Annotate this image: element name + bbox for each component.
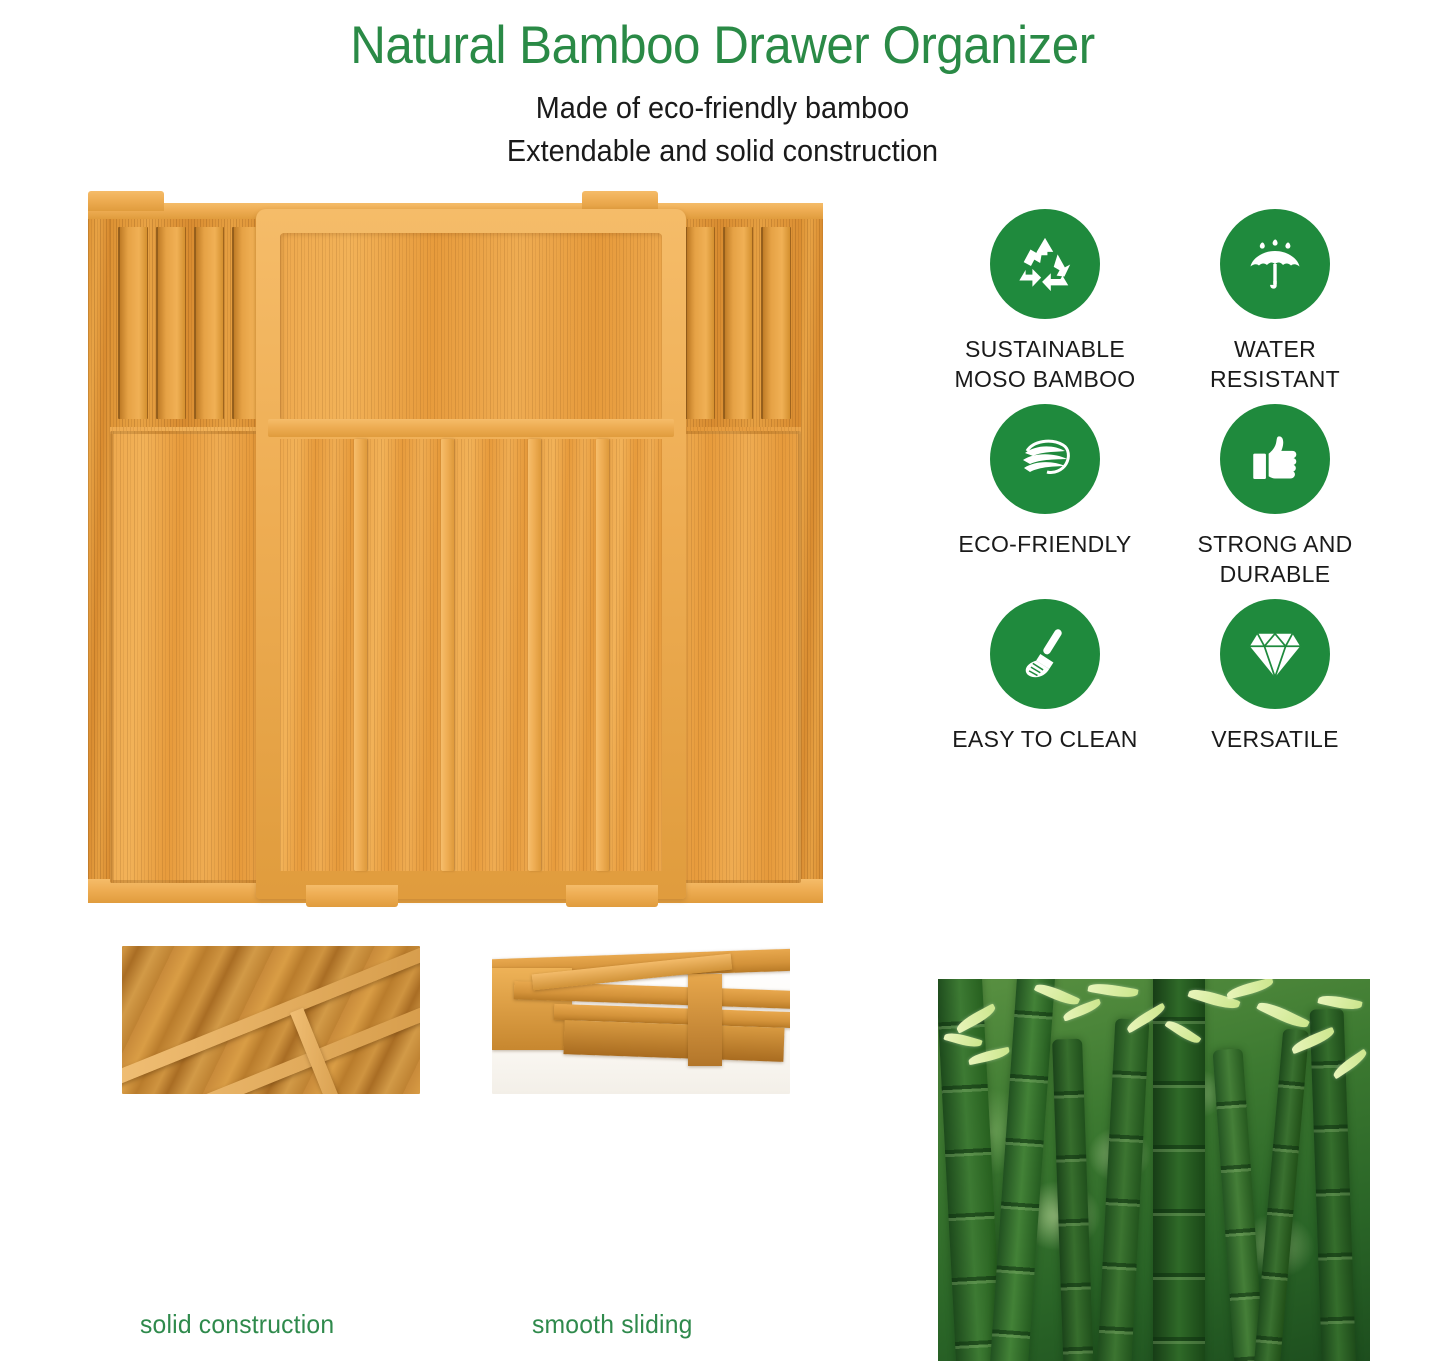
cutlery-slot (541, 439, 596, 871)
cutlery-divider (354, 439, 367, 871)
feature-label: VERSATILE (1165, 725, 1385, 754)
subtitle-line-1: Made of eco-friendly bamboo (51, 88, 1395, 129)
cutlery-divider (528, 439, 541, 871)
header: Natural Bamboo Drawer Organizer Made of … (0, 0, 1445, 171)
knife-block-left (110, 219, 272, 427)
feature-label: STRONG AND DURABLE (1165, 530, 1385, 589)
feature-easy-to-clean[interactable]: EASY TO CLEAN (935, 599, 1155, 794)
solid-construction-photo (122, 946, 420, 1094)
cutlery-slot (609, 439, 662, 871)
thumbs-up-icon (1220, 404, 1330, 514)
feature-label: EASY TO CLEAN (935, 725, 1155, 754)
leaf-wave-icon (990, 404, 1100, 514)
knife-slot (723, 227, 753, 419)
cutlery-slot (367, 439, 441, 871)
cutlery-divider (441, 439, 454, 871)
feature-grid: SUSTAINABLE MOSO BAMBOO WATER RESISTANT (935, 209, 1385, 794)
knife-slot (761, 227, 791, 419)
knife-slot (194, 227, 224, 419)
recycle-icon (990, 209, 1100, 319)
subtitle-line-2: Extendable and solid construction (51, 131, 1395, 172)
feature-strong-and-durable[interactable]: STRONG AND DURABLE (1165, 404, 1385, 599)
knife-slot (156, 227, 186, 419)
feature-label: SUSTAINABLE MOSO BAMBOO (935, 335, 1155, 394)
feature-label: WATER RESISTANT (1165, 335, 1385, 394)
tray-tab-right (582, 191, 658, 211)
center-tray-top-compartment (280, 233, 662, 421)
knife-slot (118, 227, 148, 419)
page-title: Natural Bamboo Drawer Organizer (51, 18, 1395, 74)
umbrella-rain-icon (1220, 209, 1330, 319)
frame-edge-right (801, 203, 823, 903)
feature-versatile[interactable]: VERSATILE (1165, 599, 1385, 794)
feature-eco-friendly[interactable]: ECO-FRIENDLY (935, 404, 1155, 599)
extension-foot-right (566, 885, 658, 907)
cutlery-slot (280, 439, 354, 871)
knife-slot (685, 227, 715, 419)
feature-sustainable-moso-bamboo[interactable]: SUSTAINABLE MOSO BAMBOO (935, 209, 1155, 404)
cutlery-slot (454, 439, 528, 871)
smooth-sliding-photo (492, 946, 790, 1094)
cutlery-divider (596, 439, 609, 871)
diamond-icon (1220, 599, 1330, 709)
product-hero-image (88, 191, 823, 916)
tray-tab-left (88, 191, 164, 211)
center-tray-lower-compartments (280, 437, 662, 877)
smooth-sliding-caption: smooth sliding (532, 1309, 693, 1340)
center-tray-horizontal-divider (268, 419, 674, 437)
frame-edge-left (88, 203, 110, 903)
side-compartment-left (110, 431, 272, 883)
bamboo-forest-photo (938, 979, 1370, 1361)
content-stage: solid construction smooth sliding SUSTAI… (0, 171, 1445, 1206)
feature-water-resistant[interactable]: WATER RESISTANT (1165, 209, 1385, 404)
extension-foot-left (306, 885, 398, 907)
solid-construction-caption: solid construction (140, 1309, 334, 1340)
slide-stop-block (688, 974, 722, 1066)
broom-icon (990, 599, 1100, 709)
feature-label: ECO-FRIENDLY (935, 530, 1155, 559)
bamboo-drawer-organizer (88, 191, 823, 916)
